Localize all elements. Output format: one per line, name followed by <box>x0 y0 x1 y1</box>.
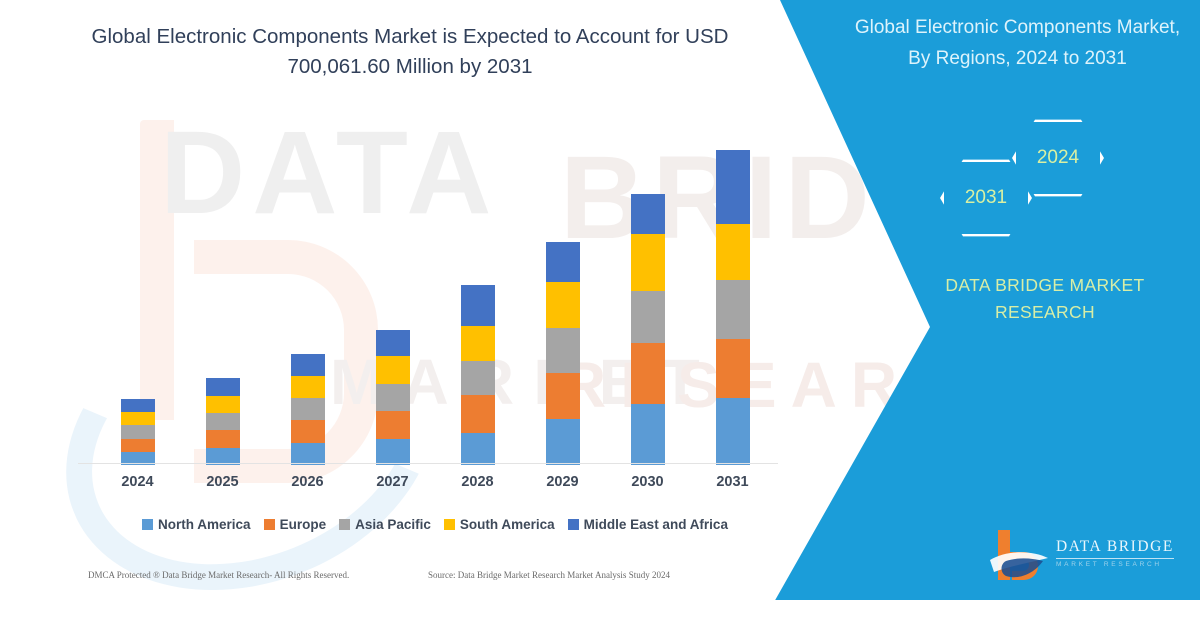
panel-brand: DATA BRIDGE MARKET RESEARCH <box>900 272 1190 326</box>
bar-segment <box>461 361 495 395</box>
legend-item[interactable]: Europe <box>264 517 327 532</box>
bar-segment <box>546 373 580 420</box>
legend-swatch-icon <box>568 519 579 530</box>
x-axis-tick-label: 2027 <box>350 474 435 490</box>
bar-segment <box>291 354 325 375</box>
dbmr-logo-wordmark: DATA BRIDGE MARKET RESEARCH <box>1056 538 1174 568</box>
bar-stack <box>291 354 325 465</box>
bar-segment <box>206 396 240 413</box>
bar-segment <box>631 234 665 291</box>
infographic-root: DATA BRIDGE MARKET RESEARCH Global Elect… <box>0 0 1200 600</box>
bar-segment <box>546 328 580 373</box>
bar-segment <box>631 291 665 343</box>
bar-segment <box>121 439 155 452</box>
bar-segment <box>376 330 410 356</box>
bar-segment <box>376 439 410 465</box>
bar-segment <box>546 242 580 283</box>
bar-segment <box>206 413 240 430</box>
bar-segment <box>546 282 580 328</box>
bar-segment <box>716 339 750 398</box>
footer-dmca-notice: DMCA Protected ® Data Bridge Market Rese… <box>88 570 349 580</box>
x-axis-tick-label: 2025 <box>180 474 265 490</box>
bar-stack <box>631 194 665 465</box>
bar-stack <box>376 330 410 465</box>
legend-swatch-icon <box>264 519 275 530</box>
legend-item[interactable]: Asia Pacific <box>339 517 431 532</box>
legend-label: Middle East and Africa <box>584 517 728 532</box>
bar-stack <box>546 242 580 465</box>
x-axis-tick-label: 2028 <box>435 474 520 490</box>
x-axis-tick-label: 2029 <box>520 474 605 490</box>
x-axis-tick-label: 2031 <box>690 474 775 490</box>
footer-source: Source: Data Bridge Market Research Mark… <box>428 570 670 580</box>
dbmr-b-icon <box>988 528 1052 582</box>
bar-segment <box>716 150 750 224</box>
legend-label: South America <box>460 517 555 532</box>
panel-title: Global Electronic Components Market, By … <box>845 12 1190 74</box>
legend-swatch-icon <box>444 519 455 530</box>
legend-label: Europe <box>280 517 327 532</box>
chart-legend: North AmericaEuropeAsia PacificSouth Ame… <box>95 512 775 536</box>
bar-segment <box>716 398 750 465</box>
bar-segment <box>461 326 495 362</box>
x-axis-tick-label: 2030 <box>605 474 690 490</box>
legend-swatch-icon <box>339 519 350 530</box>
legend-item[interactable]: South America <box>444 517 555 532</box>
bar-stack <box>206 378 240 465</box>
bar-segment <box>206 430 240 447</box>
hexagon-start-year-label: 2031 <box>965 187 1007 209</box>
hexagon-badge-end-year: 2024 <box>1012 118 1104 198</box>
chart-title: Global Electronic Components Market is E… <box>60 22 760 82</box>
dbmr-logo: DATA BRIDGE MARKET RESEARCH <box>988 528 1188 584</box>
panel-brand-line2: RESEARCH <box>900 299 1190 326</box>
bar-segment <box>376 411 410 438</box>
dbmr-logo-name: DATA BRIDGE <box>1056 538 1174 556</box>
legend-item[interactable]: North America <box>142 517 251 532</box>
bar-segment <box>461 395 495 433</box>
dbmr-logo-sub: MARKET RESEARCH <box>1056 561 1174 568</box>
bar-segment <box>461 285 495 326</box>
dbmr-logo-rule <box>1056 558 1174 559</box>
bar-segment <box>206 378 240 396</box>
bar-segment <box>291 420 325 442</box>
bar-segment <box>376 384 410 411</box>
bar-segment <box>291 443 325 465</box>
bar-segment <box>121 412 155 425</box>
bar-segment <box>546 419 580 465</box>
bar-segment <box>291 398 325 420</box>
bar-segment <box>631 343 665 404</box>
panel-brand-line1: DATA BRIDGE MARKET <box>900 272 1190 299</box>
bar-segment <box>716 280 750 339</box>
bar-segment <box>631 194 665 235</box>
bar-stack <box>461 285 495 465</box>
stacked-bar-chart <box>95 140 775 465</box>
bar-stack <box>121 399 155 465</box>
bar-segment <box>121 425 155 438</box>
bar-segment <box>716 224 750 280</box>
legend-label: Asia Pacific <box>355 517 431 532</box>
bar-segment <box>631 404 665 465</box>
legend-label: North America <box>158 517 251 532</box>
x-axis-labels: 20242025202620272028202920302031 <box>95 474 775 496</box>
bar-segment <box>121 399 155 412</box>
bar-segment <box>376 356 410 383</box>
bar-stack <box>716 150 750 465</box>
bar-segment <box>291 376 325 398</box>
hexagon-end-year-label: 2024 <box>1037 147 1079 169</box>
x-axis-tick-label: 2024 <box>95 474 180 490</box>
x-axis-tick-label: 2026 <box>265 474 350 490</box>
x-axis-line <box>78 463 778 464</box>
bar-segment <box>461 433 495 466</box>
legend-swatch-icon <box>142 519 153 530</box>
legend-item[interactable]: Middle East and Africa <box>568 517 728 532</box>
